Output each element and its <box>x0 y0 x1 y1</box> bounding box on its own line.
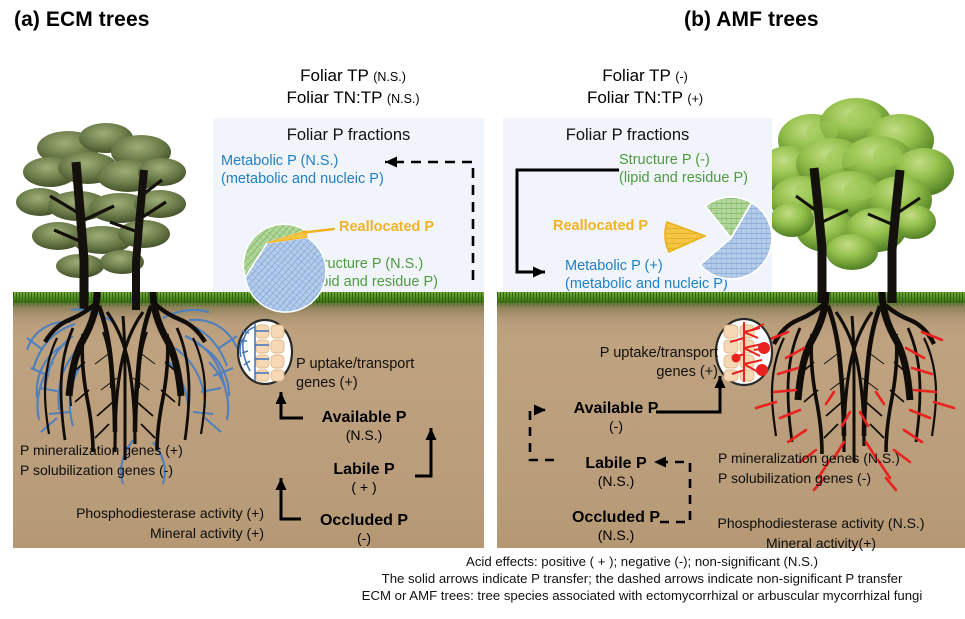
arrow-labile-to-available <box>530 410 554 460</box>
panel-a-foliar-tntp-line: Foliar TN:TP (N.S.) <box>248 88 458 108</box>
amf-tree-canopy <box>752 88 965 303</box>
panel-a-title: (a) ECM trees <box>14 8 150 32</box>
panel-a-foliar-box: Foliar P fractions Metabolic P (N.S.) (m… <box>213 118 484 292</box>
ecm-tree-canopy <box>10 110 225 310</box>
panel-b-solid-arrow-internal <box>503 160 633 286</box>
solubilization-genes-line: P solubilization genes (-) <box>20 460 183 480</box>
panel-a-pie-chart <box>217 194 317 292</box>
footer-line-3: ECM or AMF trees: tree species associate… <box>322 588 962 603</box>
foliar-tp-label: Foliar TP <box>602 66 675 85</box>
figure-root: (a) ECM trees Foliar TP (N.S.) Foliar TN… <box>0 0 965 619</box>
mineral-activity-line: Mineral activity(+) <box>700 533 942 553</box>
panel-b-foliar-tp-block: Foliar TP (-) Foliar TN:TP (+) <box>540 66 750 108</box>
pie-slice-reallocated-p <box>665 222 705 252</box>
panel-b-foliar-box-title: Foliar P fractions <box>483 126 772 145</box>
panel-a-metabolic-label: Metabolic P (N.S.) (metabolic and nuclei… <box>221 153 384 188</box>
figure-footer: Acid effects: positive ( + ); negative (… <box>322 554 962 603</box>
footer-line-1: Acid effects: positive ( + ); negative (… <box>322 554 962 569</box>
panel-b-pie-chart <box>655 184 775 292</box>
mineralization-genes-line: P mineralization genes (N.S.) <box>718 448 900 468</box>
arrow-available-to-root <box>281 392 303 418</box>
solubilization-genes-line: P solubilization genes (-) <box>718 468 900 488</box>
panel-a-transfer-arrows <box>255 380 445 540</box>
foliar-tp-sig: (-) <box>675 70 688 84</box>
panel-b-activity-text: Phosphodiesterase activity (N.S.) Minera… <box>700 513 942 554</box>
panel-b-foliar-tp-line: Foliar TP (-) <box>540 66 750 86</box>
uptake-genes-line1: P uptake/transport <box>296 355 414 374</box>
structure-p-line1: Structure P (-) <box>619 152 748 170</box>
metabolic-p-line2: (metabolic and nucleic P) <box>221 171 384 189</box>
reallocated-leader-line <box>303 229 335 233</box>
panel-a-root-cell-inset <box>236 319 294 385</box>
panel-b-title: (b) AMF trees <box>684 8 819 32</box>
mineralization-genes-line: P mineralization genes (+) <box>20 440 183 460</box>
panel-b-gene-text: P mineralization genes (N.S.) P solubili… <box>718 448 900 489</box>
panel-a-gene-text: P mineralization genes (+) P solubilizat… <box>20 440 183 481</box>
arrow-available-to-root <box>656 376 720 412</box>
panel-a-foliar-tp-block: Foliar TP (N.S.) Foliar TN:TP (N.S.) <box>248 66 458 108</box>
panel-b-foliar-box: Foliar P fractions Structure P (-) (lipi… <box>503 118 772 292</box>
panel-b-foliar-tntp-line: Foliar TN:TP (+) <box>540 88 750 108</box>
phosphodiesterase-activity-line: Phosphodiesterase activity (N.S.) <box>700 513 942 533</box>
arrow-occluded-to-labile <box>281 478 301 519</box>
panel-b-structure-label: Structure P (-) (lipid and residue P) <box>619 152 748 187</box>
foliar-tntp-label: Foliar TN:TP <box>286 88 386 107</box>
root-mass <box>45 292 205 460</box>
panel-a-foliar-box-title: Foliar P fractions <box>213 126 484 145</box>
phosphodiesterase-activity-line: Phosphodiesterase activity (+) <box>42 503 264 523</box>
metabolic-p-line1: Metabolic P (N.S.) <box>221 153 384 171</box>
foliar-tntp-sig: (N.S.) <box>387 92 420 106</box>
panel-a-foliar-tp-line: Foliar TP (N.S.) <box>248 66 458 86</box>
foliar-tp-sig: (N.S.) <box>373 70 406 84</box>
footer-line-2: The solid arrows indicate P transfer; th… <box>322 571 962 586</box>
foliar-tntp-sig: (+) <box>687 92 703 106</box>
foliar-tntp-label: Foliar TN:TP <box>587 88 687 107</box>
foliar-tp-label: Foliar TP <box>300 66 373 85</box>
panel-a-activity-text: Phosphodiesterase activity (+) Mineral a… <box>42 503 264 544</box>
mineral-activity-line: Mineral activity (+) <box>42 523 264 543</box>
arrow-occluded-to-labile <box>654 462 690 522</box>
panel-a-dashed-arrow-to-foliar <box>363 148 481 288</box>
